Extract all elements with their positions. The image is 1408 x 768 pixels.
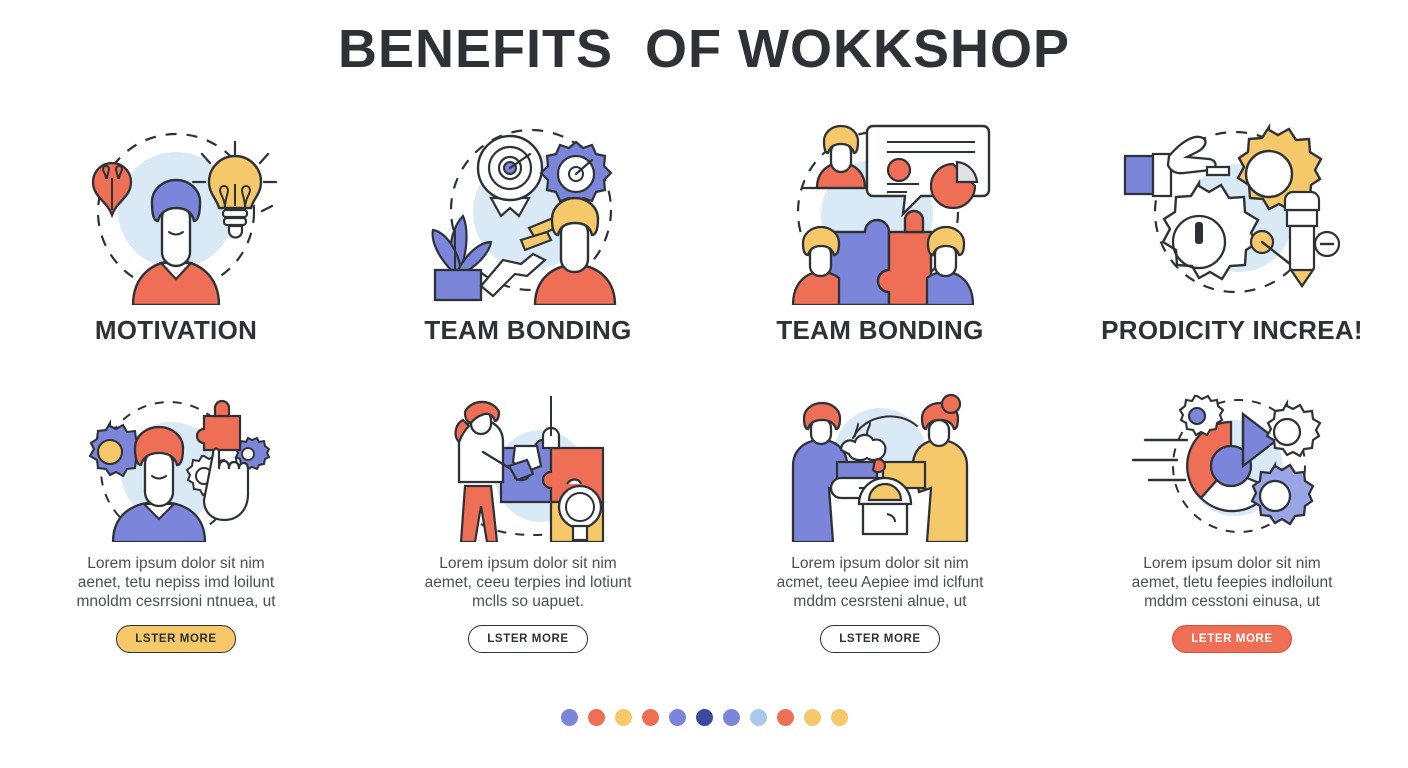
body-line: aemet, tletu feepies indloilunt bbox=[1112, 573, 1352, 592]
body-line: Lorem ipsum dolor sit nim bbox=[56, 554, 296, 573]
woman-puzzle-pieces-icon bbox=[423, 392, 633, 542]
pagination-dot[interactable] bbox=[588, 709, 605, 726]
bottom-card-motivation: Lorem ipsum dolor sit nim aenet, tetu ne… bbox=[0, 392, 352, 653]
learn-more-button[interactable]: LSTER MORE bbox=[116, 625, 235, 653]
card-body: Lorem ipsum dolor sit nim aemet, ceeu te… bbox=[408, 554, 648, 611]
pagination-dot[interactable] bbox=[804, 709, 821, 726]
pagination-dot[interactable] bbox=[831, 709, 848, 726]
pagination-dot[interactable] bbox=[642, 709, 659, 726]
card-heading: PRODICITY INCREA! bbox=[1101, 315, 1363, 346]
bottom-card-team-bonding-1: Lorem ipsum dolor sit nim aemet, ceeu te… bbox=[352, 392, 704, 653]
pagination-dot[interactable] bbox=[750, 709, 767, 726]
slide-canvas: BENEFITS OF WOKKSHOP bbox=[0, 0, 1408, 768]
person-gears-puzzle-icon bbox=[71, 392, 281, 542]
learn-more-button[interactable]: LETER MORE bbox=[1172, 625, 1291, 653]
body-line: Lorem ipsum dolor sit nim bbox=[408, 554, 648, 573]
gears-donut-chart-icon bbox=[1127, 392, 1337, 542]
pagination-dot[interactable] bbox=[561, 709, 578, 726]
pagination-dot[interactable] bbox=[615, 709, 632, 726]
card-team-bonding-1: TEAM BONDING bbox=[352, 120, 704, 346]
learn-more-button[interactable]: LSTER MORE bbox=[468, 625, 587, 653]
team-puzzle-chart-icon bbox=[765, 120, 995, 305]
pagination-dot[interactable] bbox=[669, 709, 686, 726]
learn-more-button[interactable]: LSTER MORE bbox=[820, 625, 939, 653]
pagination-dot[interactable] bbox=[696, 709, 713, 726]
body-line: acmet, teeu Aepiee imd iclfunt bbox=[760, 573, 1000, 592]
body-line: aenet, tetu nepiss imd loilunt bbox=[56, 573, 296, 592]
lightbulbs-person-icon bbox=[61, 120, 291, 305]
target-gear-plant-person-icon bbox=[413, 120, 643, 305]
body-line: mddm cesstoni einusa, ut bbox=[1112, 592, 1352, 611]
pagination-dots[interactable] bbox=[0, 709, 1408, 726]
card-body: Lorem ipsum dolor sit nim aenet, tetu ne… bbox=[56, 554, 296, 611]
pagination-dot[interactable] bbox=[777, 709, 794, 726]
body-line: Lorem ipsum dolor sit nim bbox=[1112, 554, 1352, 573]
body-line: Lorem ipsum dolor sit nim bbox=[760, 554, 1000, 573]
card-team-bonding-2: TEAM BONDING bbox=[704, 120, 1056, 346]
body-line: mnoldm cesrrsioni ntnuea, ut bbox=[56, 592, 296, 611]
hand-gears-tools-icon bbox=[1117, 120, 1347, 305]
body-line: mclls so uapuet. bbox=[408, 592, 648, 611]
bottom-card-productivity: Lorem ipsum dolor sit nim aemet, tletu f… bbox=[1056, 392, 1408, 653]
bottom-cards-row: Lorem ipsum dolor sit nim aenet, tetu ne… bbox=[0, 392, 1408, 653]
top-cards-row: MOTIVATION bbox=[0, 120, 1408, 346]
page-title: BENEFITS OF WOKKSHOP bbox=[0, 18, 1408, 80]
card-heading: TEAM BONDING bbox=[424, 315, 631, 346]
bottom-card-team-bonding-2: Lorem ipsum dolor sit nim acmet, teeu Ae… bbox=[704, 392, 1056, 653]
card-heading: MOTIVATION bbox=[95, 315, 257, 346]
body-line: aemet, ceeu terpies ind lotiunt bbox=[408, 573, 648, 592]
card-motivation: MOTIVATION bbox=[0, 120, 352, 346]
card-body: Lorem ipsum dolor sit nim aemet, tletu f… bbox=[1112, 554, 1352, 611]
card-heading: TEAM BONDING bbox=[776, 315, 983, 346]
card-productivity: PRODICITY INCREA! bbox=[1056, 120, 1408, 346]
pagination-dot[interactable] bbox=[723, 709, 740, 726]
handshake-two-people-icon bbox=[775, 392, 985, 542]
body-line: mddm cesrsteni alnue, ut bbox=[760, 592, 1000, 611]
card-body: Lorem ipsum dolor sit nim acmet, teeu Ae… bbox=[760, 554, 1000, 611]
